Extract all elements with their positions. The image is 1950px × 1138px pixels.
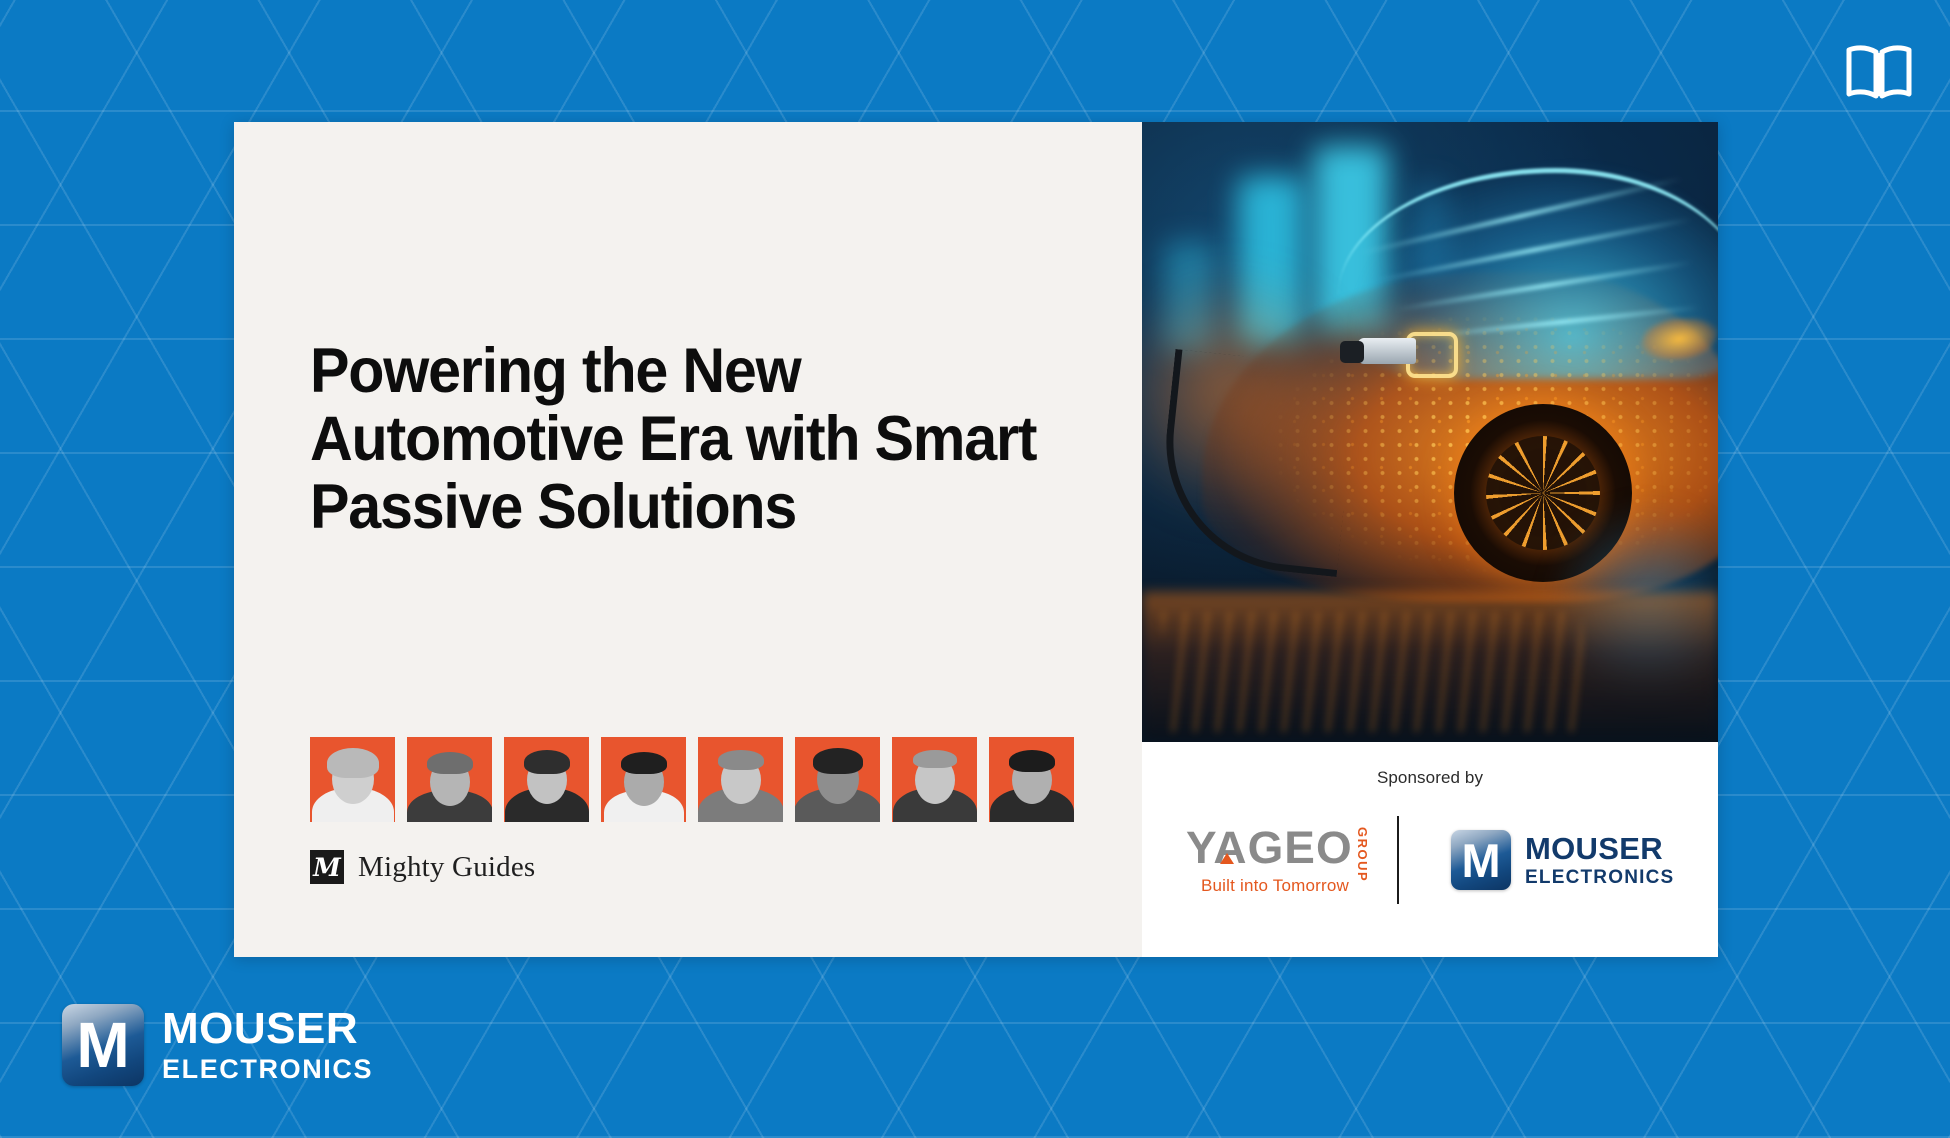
- speaker-hair: [1009, 750, 1055, 772]
- speaker-headshot-3: [504, 737, 589, 822]
- page-title: Powering the New Automotive Era with Sma…: [310, 337, 1053, 541]
- speaker-headshot-7: [892, 737, 977, 822]
- speaker-hair: [524, 750, 570, 774]
- ebook-cover-card: Powering the New Automotive Era with Sma…: [234, 122, 1718, 957]
- speaker-hair: [913, 750, 957, 768]
- speaker-headshot-6: [795, 737, 880, 822]
- open-book-icon[interactable]: [1843, 40, 1915, 102]
- sponsor-panel: Sponsored by YAGEO GROUP Built into Tomo…: [1142, 742, 1718, 957]
- mouser-footer-mark-icon: M: [62, 1004, 144, 1086]
- ev-charging-hero-image: [1142, 122, 1718, 742]
- mighty-guides-logo: M Mighty Guides: [310, 850, 535, 884]
- cover-right-pane: Sponsored by YAGEO GROUP Built into Tomo…: [1142, 122, 1718, 957]
- speaker-headshot-1: [310, 737, 395, 822]
- sponsored-by-label: Sponsored by: [1377, 768, 1483, 788]
- cover-left-pane: Powering the New Automotive Era with Sma…: [234, 122, 1142, 957]
- speaker-hair: [813, 748, 863, 774]
- sponsor-logo-row: YAGEO GROUP Built into Tomorrow M MOUSER…: [1186, 816, 1675, 904]
- mouser-wordmark-line2: ELECTRONICS: [1525, 868, 1674, 887]
- yageo-wordmark: YAGEO: [1186, 825, 1353, 870]
- mouser-footer-mark-letter: M: [76, 1013, 129, 1077]
- speaker-headshot-strip: [310, 737, 1074, 822]
- mouser-mark-letter: M: [1461, 837, 1500, 884]
- mouser-footer-logo[interactable]: M MOUSER ELECTRONICS: [62, 1004, 373, 1086]
- speaker-hair: [327, 748, 379, 778]
- mighty-guides-wordmark: Mighty Guides: [358, 851, 535, 884]
- speaker-headshot-5: [698, 737, 783, 822]
- mouser-wordmark-line1: MOUSER: [1525, 833, 1674, 864]
- yageo-tagline: Built into Tomorrow: [1186, 876, 1349, 896]
- yageo-group-label: GROUP: [1355, 827, 1370, 882]
- speaker-headshot-4: [601, 737, 686, 822]
- mighty-guides-mark: M: [310, 850, 344, 884]
- speaker-hair: [718, 750, 764, 770]
- yageo-logo[interactable]: YAGEO GROUP Built into Tomorrow: [1186, 825, 1397, 896]
- speaker-hair: [427, 752, 473, 774]
- mouser-mark-icon: M: [1451, 830, 1511, 890]
- mouser-sponsor-logo[interactable]: M MOUSER ELECTRONICS: [1399, 830, 1674, 890]
- speaker-headshot-8: [989, 737, 1074, 822]
- speaker-hair: [621, 752, 667, 774]
- mouser-footer-line2: ELECTRONICS: [162, 1056, 373, 1083]
- yageo-triangle-icon: [1220, 853, 1234, 864]
- speaker-headshot-2: [407, 737, 492, 822]
- mouser-footer-line1: MOUSER: [162, 1007, 373, 1051]
